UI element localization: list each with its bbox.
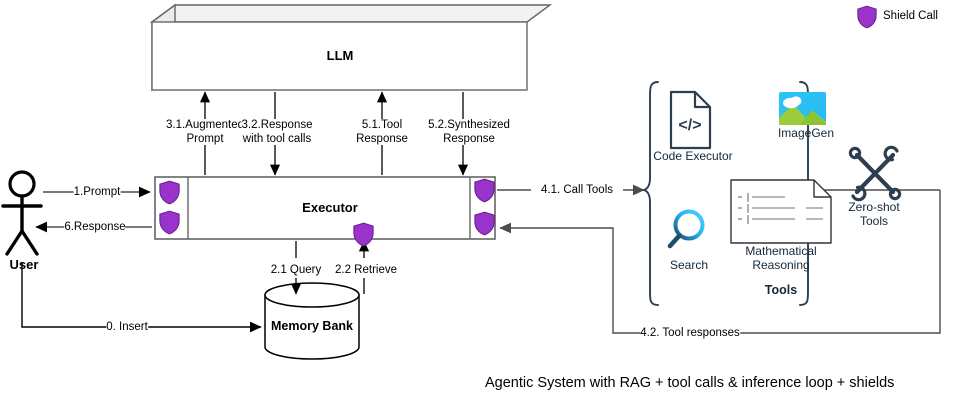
math-document-icon	[731, 180, 831, 243]
image-picture-icon	[779, 92, 826, 125]
shield-icon-executor-memory	[354, 223, 373, 246]
crossed-wrenches-icon	[850, 147, 899, 199]
executor-node	[155, 177, 495, 239]
memory-bank-node	[265, 283, 359, 359]
diagram-vector-layer: </>	[0, 0, 970, 411]
diagram-caption: Agentic System with RAG + tool calls & i…	[485, 375, 894, 391]
edge-insert	[22, 262, 261, 327]
edge-tool-responses	[500, 190, 940, 333]
user-node	[3, 172, 41, 254]
code-document-icon: </>	[671, 92, 710, 148]
llm-node	[152, 5, 550, 90]
svg-text:</>: </>	[678, 117, 701, 134]
shield-icon-legend	[858, 6, 876, 28]
diagram-canvas: </>	[0, 0, 970, 411]
magnifier-icon	[670, 212, 703, 247]
tools-left-brace	[644, 82, 658, 305]
